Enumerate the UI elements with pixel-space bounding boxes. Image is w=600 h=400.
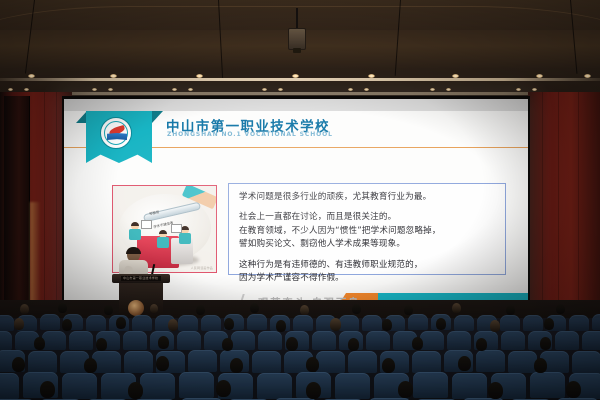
auditorium-seat (188, 350, 217, 372)
auditorium-seat (408, 314, 428, 330)
downlight-icon (24, 88, 29, 91)
slide-text-line: 譬如购买论文、剽窃他人学术成果等现象。 (239, 238, 495, 251)
auditorium-photo: 中山市第一职业技术学校 ZHONGSHAN NO.1 VOCATIONAL SC… (0, 0, 600, 400)
audience-member (276, 320, 286, 332)
audience-member (540, 337, 551, 350)
downlight-icon (110, 74, 117, 78)
slide-text-line: 学术问题是很多行业的顽疾，尤其教育行业为最。 (239, 191, 495, 204)
audience-member (286, 337, 298, 351)
auditorium-seat (530, 372, 565, 398)
audience-member (398, 381, 413, 398)
text-gap (239, 252, 495, 259)
auditorium-seat (592, 314, 600, 330)
auditorium-seat (0, 315, 14, 331)
auditorium-seat (476, 350, 505, 372)
audience-member (490, 320, 500, 332)
downlight-icon (536, 74, 543, 78)
auditorium-seat (201, 315, 221, 331)
auditorium-seat (247, 314, 267, 330)
auditorium-seat (501, 331, 525, 350)
audience-member (534, 358, 547, 373)
audience-member (306, 357, 319, 372)
podium-nameplate-text: 中山市第一职业技术学校 (123, 276, 158, 280)
slide-text-line: 这种行为是有违师德的、有违教师职业规范的， (239, 259, 495, 272)
auditorium-seat (339, 315, 359, 331)
audience-member (306, 382, 321, 399)
audience-member (40, 381, 55, 398)
side-door (4, 96, 30, 324)
audience-member (128, 382, 143, 399)
podium: 中山市第一职业技术学校 (112, 274, 170, 320)
auditorium-seat (40, 314, 60, 330)
podium-seal-icon (128, 300, 144, 316)
audience-member (14, 318, 24, 330)
audience-member (84, 358, 97, 373)
audience-member (382, 358, 395, 373)
auditorium-seat (231, 331, 255, 350)
downlight-icon (292, 74, 299, 78)
auditorium-seat (366, 331, 390, 350)
ceiling (0, 0, 600, 96)
auditorium-seat (177, 331, 201, 350)
downlight-icon (28, 74, 35, 78)
audience-member (412, 337, 423, 350)
auditorium-seat (140, 373, 175, 399)
downlight-icon (584, 74, 591, 78)
school-crest-icon (100, 117, 132, 149)
audience-member (62, 319, 72, 331)
downlight-icon (188, 88, 193, 91)
auditorium-seat (316, 351, 345, 373)
ribbon-fold-left-icon (76, 111, 87, 123)
audience-member (544, 318, 554, 330)
auditorium-seat (412, 351, 441, 373)
audience-member (230, 358, 243, 373)
audience-member (250, 303, 259, 313)
auditorium-seat (452, 373, 487, 399)
auditorium-seat (335, 373, 370, 399)
cartoon-credit: 人民网漫画作品 (191, 266, 213, 270)
auditorium-seat (555, 331, 579, 350)
audience-member (58, 303, 67, 313)
downlight-icon (172, 88, 177, 91)
audience-member (216, 380, 231, 397)
podium-nameplate: 中山市第一职业技术学校 (121, 276, 161, 281)
auditorium-seat (179, 372, 214, 398)
audience-member (156, 356, 169, 371)
right-wall (528, 92, 600, 324)
audience-member (150, 304, 158, 313)
audience-member (556, 304, 565, 314)
cartoon-figure (157, 230, 169, 248)
auditorium-seat (572, 351, 600, 373)
audience-member (104, 305, 113, 315)
ribbon-fold-right-icon (152, 111, 163, 123)
audience-member (222, 338, 233, 351)
auditorium-seat (413, 372, 448, 398)
audience-member (506, 305, 515, 315)
audience-member (330, 318, 341, 331)
auditorium-seat (28, 351, 57, 373)
auditorium-seat (348, 351, 377, 373)
downlight-icon (262, 88, 267, 91)
auditorium-seat (123, 331, 147, 350)
auditorium-seat (454, 315, 474, 331)
audience-member (352, 304, 361, 314)
audience-member (458, 356, 471, 371)
downlight-icon (368, 74, 375, 78)
audience-member (224, 318, 234, 330)
ceiling-projector (288, 8, 306, 52)
auditorium-seat (258, 331, 282, 350)
downlight-icon (348, 88, 353, 91)
downlight-icon (196, 74, 203, 78)
audience-member (20, 304, 29, 314)
auditorium-seat (312, 331, 336, 350)
slide-text-line: 因为学术严谨容不得作假。 (239, 272, 495, 285)
audience-member (404, 305, 413, 315)
audience-member (96, 338, 107, 351)
audience-member (300, 305, 309, 315)
slide-header-band (64, 99, 528, 111)
text-gap (239, 204, 495, 211)
downlight-icon (430, 88, 435, 91)
audience-member (436, 318, 446, 330)
audience-member (116, 317, 126, 329)
audience-member (452, 303, 461, 313)
audience-member (34, 337, 45, 350)
auditorium-seat (62, 373, 97, 399)
downlight-icon (108, 88, 113, 91)
downlight-icon (532, 88, 537, 91)
audience-member (158, 336, 169, 349)
downlight-icon (364, 88, 369, 91)
auditorium-seat (132, 315, 152, 331)
auditorium-seat (124, 351, 153, 373)
auditorium-seat (42, 331, 66, 350)
downlight-icon (452, 74, 459, 78)
audience-seating (0, 318, 600, 400)
audience-member (382, 319, 392, 331)
auditorium-seat (178, 315, 198, 331)
auditorium-seat (569, 315, 589, 331)
auditorium-seat (0, 373, 19, 399)
audience-member (476, 338, 487, 351)
auditorium-seat (500, 315, 520, 331)
audience-member (168, 319, 178, 331)
downlight-icon (516, 88, 521, 91)
school-name-en: ZHONGSHAN NO.1 VOCATIONAL SCHOOL (167, 131, 333, 138)
slide-textbox: 学术问题是很多行业的顽疾，尤其教育行业为最。社会上一直都在讨论，而且是很关注的。… (228, 183, 506, 275)
downlight-icon (446, 88, 451, 91)
auditorium-seat (447, 331, 471, 350)
auditorium-seat (420, 331, 444, 350)
audience-member (12, 357, 25, 372)
auditorium-seat (293, 315, 313, 331)
audience-member (488, 382, 503, 399)
auditorium-seat (508, 351, 537, 373)
auditorium-seat (252, 351, 281, 373)
audience-member (566, 381, 581, 398)
slide-text-line: 社会上一直都在讨论，而且是很关注的。 (239, 211, 495, 224)
downlight-icon (92, 88, 97, 91)
auditorium-seat (86, 315, 106, 331)
downlight-icon (8, 88, 13, 91)
auditorium-seat (582, 331, 600, 350)
slide-text-line: 在教育领域，不少人因为“惯性”把学术问题忽略掉， (239, 225, 495, 238)
auditorium-seat (523, 315, 543, 331)
downlight-icon (278, 88, 283, 91)
auditorium-seat (257, 373, 292, 399)
auditorium-seat (362, 315, 382, 331)
audience-member (196, 305, 205, 315)
auditorium-seat (69, 331, 93, 350)
auditorium-seat (0, 331, 12, 350)
audience-member (348, 338, 359, 351)
cartoon-figure (129, 222, 141, 240)
